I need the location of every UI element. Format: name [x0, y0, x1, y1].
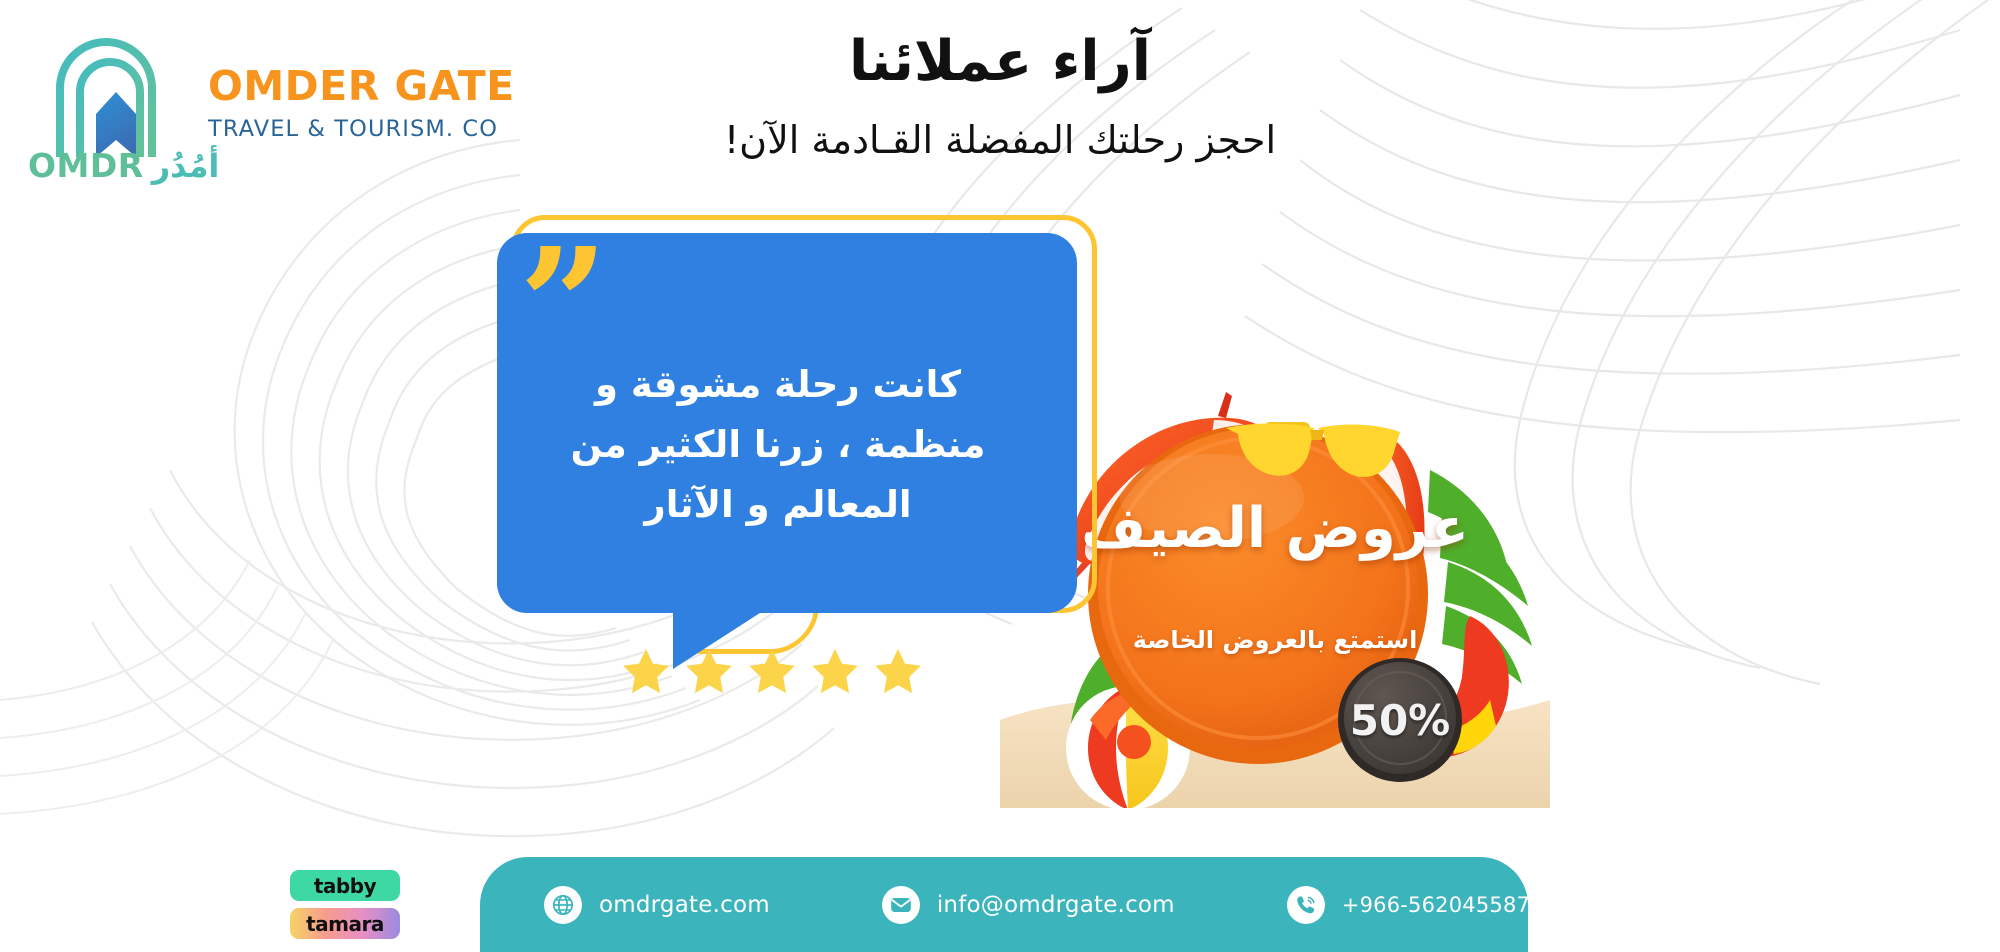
- star-icon: [683, 645, 735, 697]
- contact-email[interactable]: info@omdrgate.com: [882, 886, 1175, 924]
- brand-name-arabic: أمُدُر: [152, 147, 220, 185]
- star-icon: [746, 645, 798, 697]
- website-value: omdrgate.com: [599, 892, 770, 918]
- testimonial-card: ” كانت رحلة مشوقة و منظمة ، زرنا الكثير …: [497, 215, 1097, 635]
- contact-website[interactable]: omdrgate.com: [544, 886, 770, 924]
- bubble-body: ” كانت رحلة مشوقة و منظمة ، زرنا الكثير …: [497, 233, 1077, 613]
- banner-canvas: OMDER GATE TRAVEL & TOURISM. CO أمُدُر O…: [0, 0, 2000, 952]
- globe-icon: [544, 886, 582, 924]
- star-icon: [620, 645, 672, 697]
- star-icon: [809, 645, 861, 697]
- payment-tamara[interactable]: tamara: [290, 908, 400, 939]
- payment-tabby-label: tabby: [314, 874, 376, 898]
- payment-tabby[interactable]: tabby: [290, 870, 400, 901]
- brand-name-arabic-lockup: أمُدُر OMDR: [28, 146, 219, 185]
- email-value: info@omdrgate.com: [937, 892, 1175, 918]
- phone-icon: [1287, 886, 1325, 924]
- rating-stars: [620, 645, 924, 697]
- payment-tamara-label: tamara: [306, 912, 384, 936]
- star-icon: [872, 645, 924, 697]
- phone-value: +966-562045587: [1342, 893, 1530, 917]
- quote-mark-icon: ”: [519, 227, 608, 382]
- contact-phone[interactable]: +966-562045587: [1287, 886, 1530, 924]
- envelope-icon: [882, 886, 920, 924]
- brand-tagline: TRAVEL & TOURISM. CO: [208, 116, 515, 142]
- contact-bar: omdrgate.com info@omdrgate.com +966-5620…: [480, 857, 1528, 952]
- brand-name: OMDER GATE: [208, 66, 515, 107]
- brand-name-latin: OMDR: [28, 146, 144, 185]
- payment-methods: tabby tamara: [290, 870, 400, 939]
